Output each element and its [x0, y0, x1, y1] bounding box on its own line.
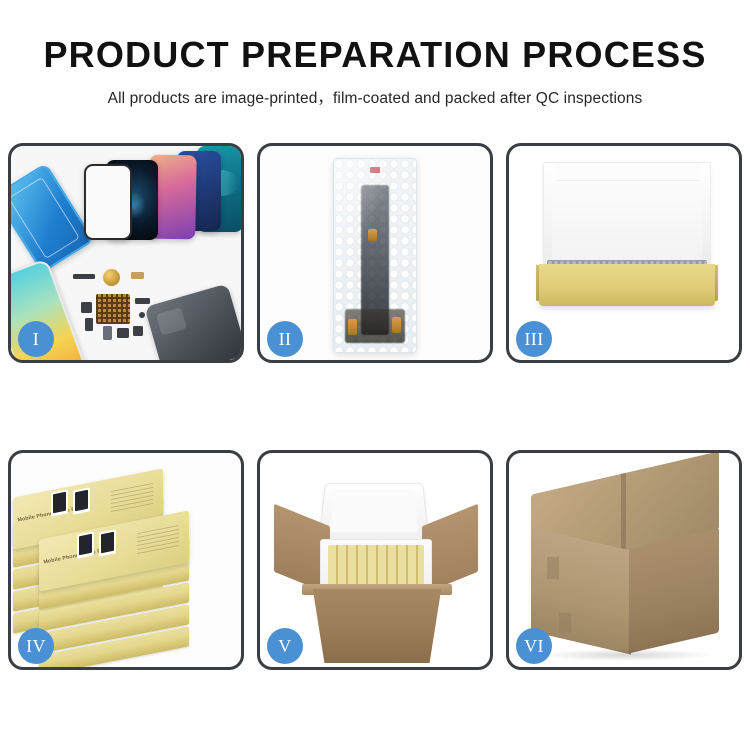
step-2-illustration: II	[260, 146, 490, 360]
process-step-1: I	[8, 143, 244, 363]
step-4-illustration: Mobile Phone Spare Parts Mobile Phone Sp…	[11, 453, 241, 667]
button-component	[85, 318, 93, 331]
bubble-wrap-bag	[333, 158, 417, 353]
box-artwork-screen	[77, 531, 94, 558]
carton-side-face	[629, 529, 719, 654]
step-badge-2: II	[267, 321, 303, 357]
adhesive-frame-part	[11, 163, 95, 274]
vibrator-component	[133, 326, 143, 336]
step-badge-1: I	[18, 321, 54, 357]
box-artwork-screen	[51, 489, 68, 516]
process-step-2: II	[257, 143, 493, 363]
process-step-6: VI	[506, 450, 742, 670]
sim-tray-component	[103, 326, 112, 340]
logic-board-component	[96, 294, 130, 324]
camera-component	[81, 302, 92, 313]
step-1-illustration: I	[11, 146, 241, 360]
step-badge-6: VI	[516, 628, 552, 664]
step-badge-3: III	[516, 321, 552, 357]
screw-component	[139, 312, 145, 318]
header: PRODUCT PREPARATION PROCESS All products…	[0, 0, 750, 108]
kraft-box-base	[539, 264, 715, 306]
speaker-component	[103, 269, 120, 286]
bag-gloss-highlight	[334, 159, 416, 352]
step-3-illustration: III	[509, 146, 739, 360]
page-title: PRODUCT PREPARATION PROCESS	[0, 36, 750, 74]
step-badge-4: IV	[18, 628, 54, 664]
process-step-5: V	[257, 450, 493, 670]
phone-back-housing	[144, 284, 241, 360]
white-foam-lid	[543, 162, 711, 272]
foam-cooler-lid	[319, 483, 429, 541]
carton-shadow	[539, 649, 715, 661]
tape-strip-bottom	[559, 613, 571, 633]
phone-glass-panel	[84, 164, 132, 240]
step-5-illustration: V	[260, 453, 490, 667]
box-artwork-screen	[73, 487, 90, 514]
flex-cable-component	[73, 274, 95, 279]
step-badge-5: V	[267, 628, 303, 664]
carton-body	[304, 589, 450, 663]
box-artwork-screen	[99, 529, 116, 556]
battery-connector-component	[117, 328, 129, 338]
page-subtitle: All products are image-printed，film-coat…	[0, 86, 750, 108]
process-step-4: Mobile Phone Spare Parts Mobile Phone Sp…	[8, 450, 244, 670]
process-step-3: III	[506, 143, 742, 363]
packed-retail-boxes	[328, 545, 424, 589]
process-steps-grid: I II	[8, 143, 742, 673]
product-preparation-infographic: PRODUCT PREPARATION PROCESS All products…	[0, 0, 750, 750]
tape-strip-top	[547, 557, 559, 579]
step-6-illustration: VI	[509, 453, 739, 667]
connector-component	[131, 272, 144, 279]
bracket-component	[135, 298, 150, 304]
